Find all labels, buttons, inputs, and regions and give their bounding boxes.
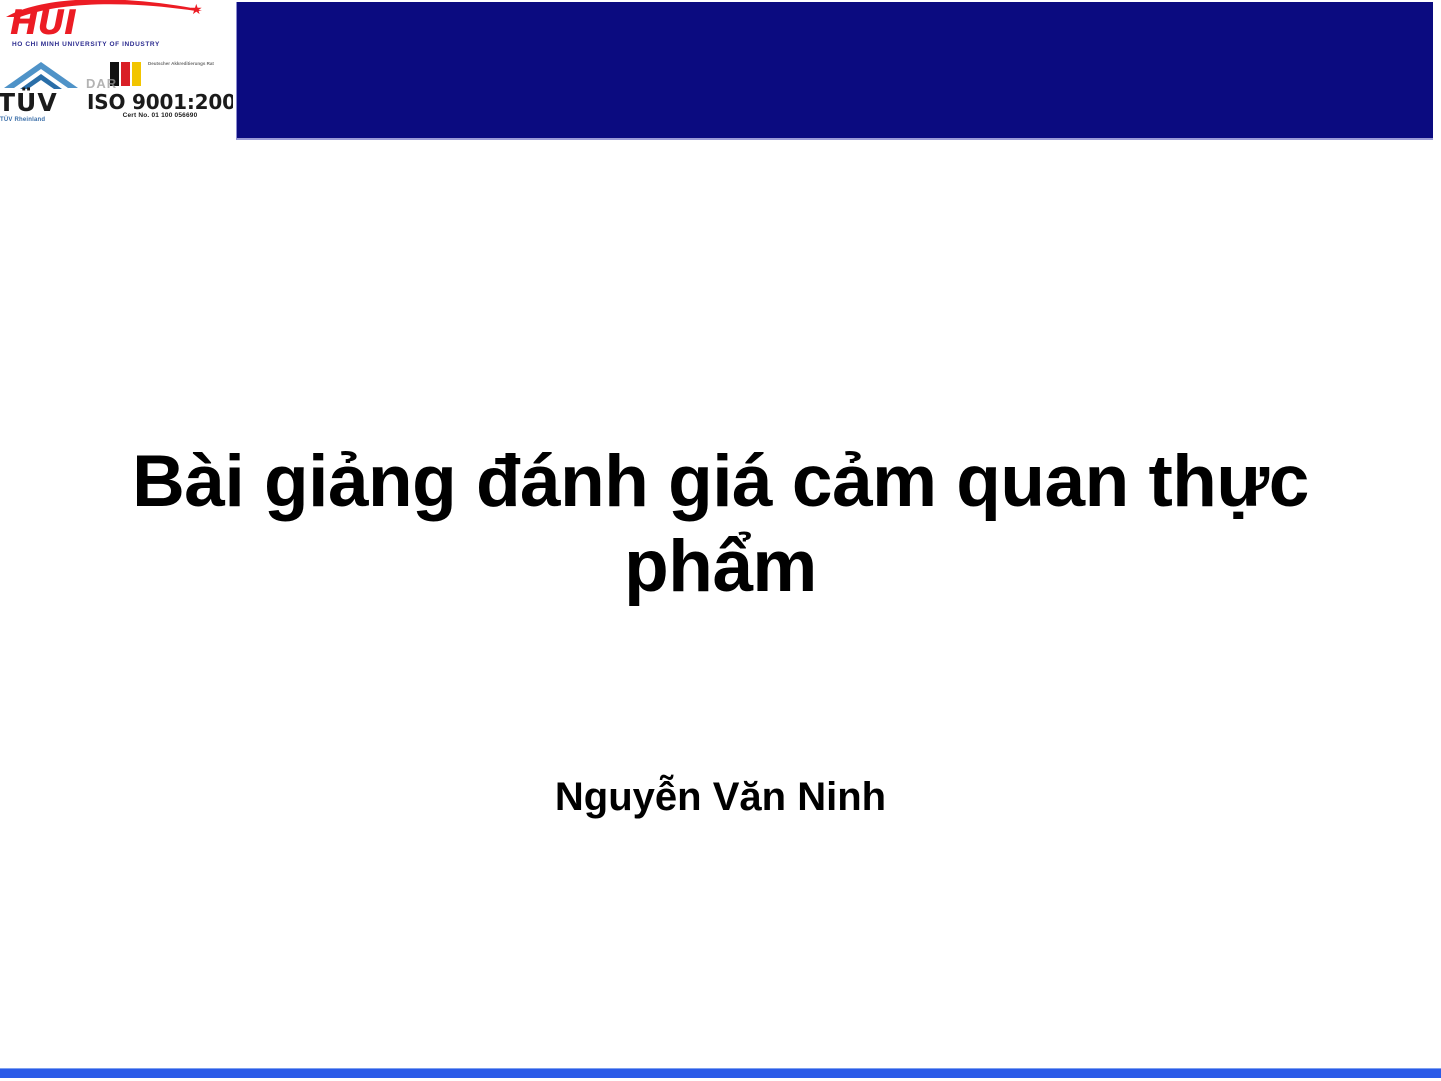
hui-star-icon: ★: [190, 2, 203, 16]
subtitle-placeholder: Nguyễn Văn Ninh: [50, 775, 1391, 820]
tuv-rheinland-logo: TÜV TÜV Rheinland: [0, 58, 86, 134]
slide-body: Bài giảng đánh giá cảm quan thực phẩm Ng…: [0, 145, 1441, 1065]
iso-standard-label: ISO 9001:2000: [87, 90, 233, 114]
slide-header-band: HUI ★ HO CHI MINH UNIVERSITY OF INDUSTRY…: [0, 0, 1441, 145]
hui-university-name: HO CHI MINH UNIVERSITY OF INDUSTRY: [12, 41, 222, 48]
slide-footer-bar: [0, 1068, 1441, 1078]
slide-author: Nguyễn Văn Ninh: [50, 775, 1391, 820]
iso-cert-number: Cert No. 01 100 056690: [87, 112, 233, 119]
dar-letters: DAR: [86, 76, 233, 91]
dar-accreditation-text: Deutscher Akkreditierungs Rat: [148, 61, 232, 67]
tuv-rheinland-subtitle: TÜV Rheinland: [0, 117, 88, 123]
slide-title: Bài giảng đánh giá cảm quan thực phẩm: [50, 440, 1391, 609]
dar-accreditation-mark: Deutscher Akkreditierungs Rat DAR: [86, 60, 233, 92]
iso-certification-mark: Deutscher Akkreditierungs Rat DAR ISO 90…: [86, 60, 233, 132]
tuv-wordmark: TÜV: [0, 90, 82, 116]
header-banner: [236, 2, 1433, 140]
institution-logo-box: HUI ★ HO CHI MINH UNIVERSITY OF INDUSTRY…: [0, 0, 233, 141]
hui-logo: HUI ★ HO CHI MINH UNIVERSITY OF INDUSTRY: [0, 0, 233, 58]
title-placeholder: Bài giảng đánh giá cảm quan thực phẩm: [50, 440, 1391, 609]
